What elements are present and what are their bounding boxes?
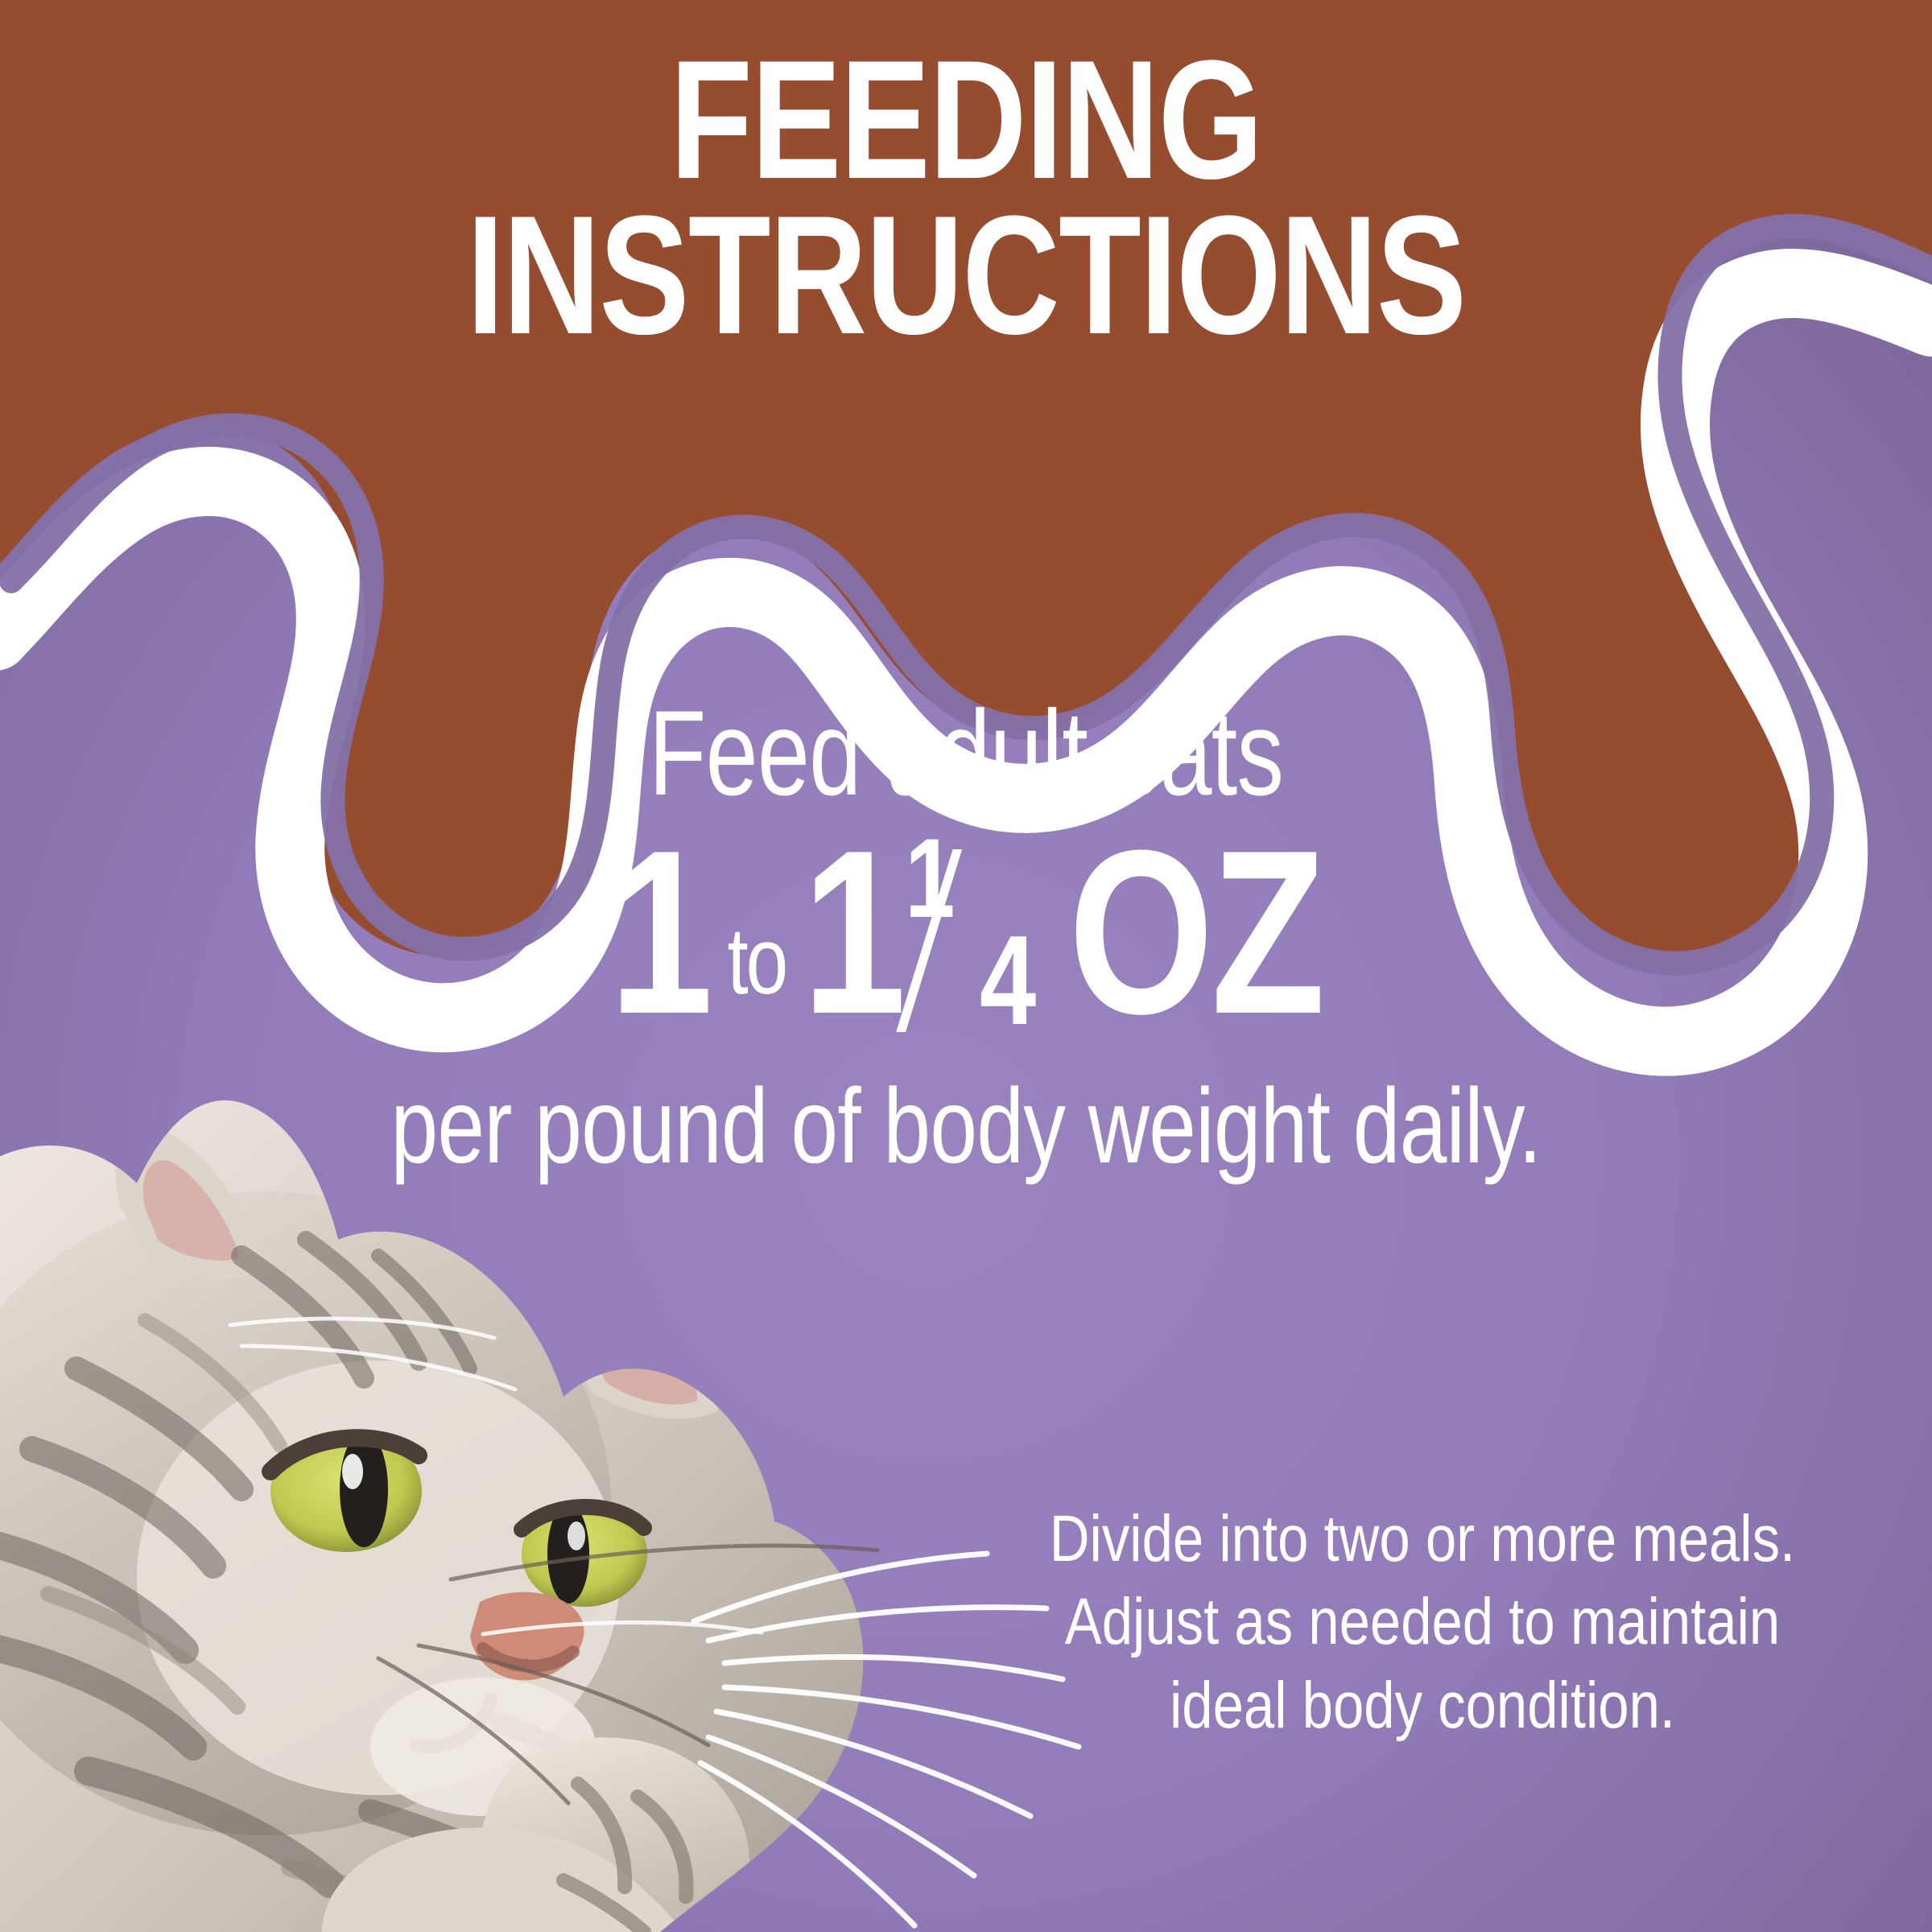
amount-connector: to (711, 914, 803, 1038)
feeding-note: Divide into two or more meals. Adjust as… (1034, 1497, 1811, 1747)
amount-max-whole: 1 (803, 828, 904, 1038)
amount-fraction: 1 ⁄ 4 (904, 828, 1039, 1038)
cat-eye-left (270, 1430, 422, 1552)
page-title: FEEDING INSTRUCTIONS (193, 42, 1739, 353)
cat-body-group (0, 1079, 885, 1932)
fraction-slash: ⁄ (923, 807, 943, 1073)
headline-amount-row: 1 to 1 1 ⁄ 4 OZ (193, 828, 1739, 1038)
amount-min: 1 (609, 828, 711, 1038)
packaging-panel: FEEDING INSTRUCTIONS Feed adult cats 1 t… (0, 0, 1932, 1932)
fraction-denominator: 4 (980, 917, 1034, 1044)
headline-block: Feed adult cats 1 to 1 1 ⁄ 4 OZ per poun… (0, 692, 1932, 1179)
headline-trailing: per pound of body weight daily. (193, 1073, 1739, 1179)
amount-unit: OZ (1039, 828, 1323, 1038)
headline-lead: Feed adult cats (213, 692, 1719, 813)
